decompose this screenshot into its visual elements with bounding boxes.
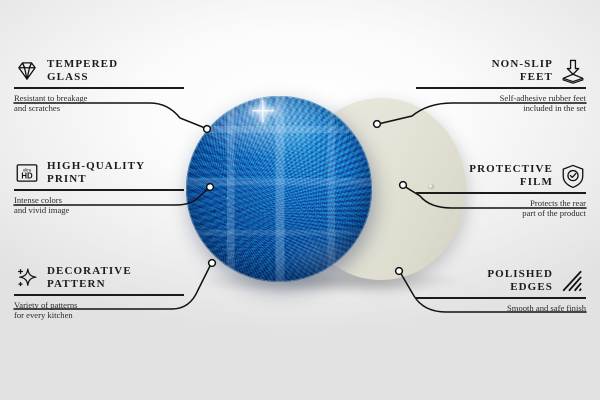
divider (14, 87, 184, 89)
diagonal-lines-icon (560, 268, 586, 294)
feature-title: DECORATIVE PATTERN (47, 265, 132, 291)
divider (416, 192, 586, 194)
connector-dot-decorative-pattern (209, 260, 216, 267)
feature-title: PROTECTIVE FILM (469, 163, 553, 189)
connector-dot-polished-edges (396, 268, 403, 275)
feature-description: Variety of patterns for every kitchen (14, 300, 184, 321)
divider (416, 297, 586, 299)
feature-high-quality-print: ultra HD HIGH-QUALITY PRINT Intense colo… (14, 160, 184, 216)
feature-tempered-glass: TEMPERED GLASS Resistant to breakage and… (14, 58, 184, 114)
feature-polished-edges: POLISHED EDGES Smooth and safe finish (416, 268, 586, 313)
infographic-canvas: TEMPERED GLASS Resistant to breakage and… (0, 0, 600, 400)
feature-protective-film: PROTECTIVE FILM Protects the rear part o… (416, 163, 586, 219)
feature-title: NON-SLIP FEET (492, 58, 553, 84)
feature-non-slip-feet: NON-SLIP FEET Self-adhesive rubber feet … (416, 58, 586, 114)
feature-description: Intense colors and vivid image (14, 195, 184, 216)
feature-decorative-pattern: DECORATIVE PATTERN Variety of patterns f… (14, 265, 184, 321)
connector-dot-non-slip-feet (374, 121, 381, 128)
feature-title: POLISHED EDGES (487, 268, 553, 294)
feature-description: Self-adhesive rubber feet included in th… (416, 93, 586, 114)
divider (416, 87, 586, 89)
feature-description: Resistant to breakage and scratches (14, 93, 184, 114)
connector-dot-protective-film (400, 182, 407, 189)
feature-title: HIGH-QUALITY PRINT (47, 160, 145, 186)
connector-dot-tempered-glass (204, 126, 211, 133)
svg-text:HD: HD (21, 172, 33, 181)
sparkle-icon (14, 265, 40, 291)
diamond-icon (14, 58, 40, 84)
feature-description: Protects the rear part of the product (416, 198, 586, 219)
shield-check-icon (560, 163, 586, 189)
feature-description: Smooth and safe finish (416, 303, 586, 314)
ultra-hd-icon: ultra HD (14, 160, 40, 186)
press-down-arrow-icon (560, 58, 586, 84)
feature-title: TEMPERED GLASS (47, 58, 118, 84)
divider (14, 189, 184, 191)
connector-dot-high-quality-print (207, 184, 214, 191)
divider (14, 294, 184, 296)
